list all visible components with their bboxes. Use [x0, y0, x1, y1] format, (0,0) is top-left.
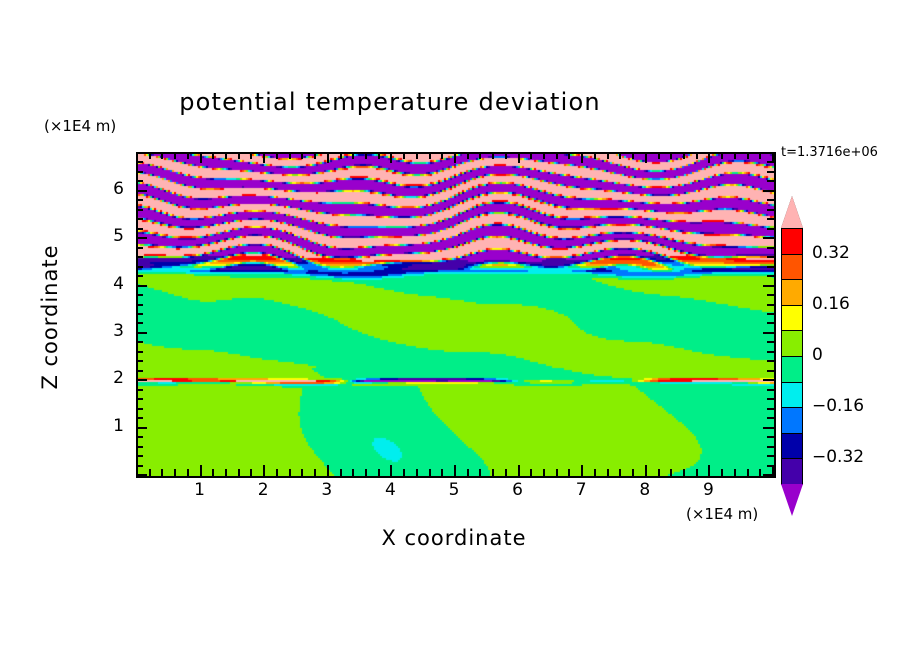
y-tick-right	[767, 209, 774, 211]
x-tick	[390, 465, 392, 476]
y-tick-right	[767, 180, 774, 182]
y-tick-right	[763, 237, 774, 239]
x-tick	[632, 469, 634, 476]
y-tick-right	[767, 161, 774, 163]
y-tick-right	[767, 341, 774, 343]
contour-field	[138, 154, 774, 476]
x-tick	[518, 465, 520, 476]
x-unit-label: (×1E4 m)	[686, 505, 758, 523]
y-tick-right	[767, 455, 774, 457]
colorbar-band	[781, 305, 803, 332]
y-tick	[136, 398, 143, 400]
x-tick-top	[518, 152, 520, 163]
colorbar-tick-label: −0.32	[812, 447, 864, 467]
x-tick	[556, 469, 558, 476]
y-tick-right	[767, 465, 774, 467]
x-tick-label: 4	[370, 480, 410, 500]
contour-plot-area[interactable]	[136, 152, 776, 478]
y-tick	[136, 436, 143, 438]
x-tick-top	[212, 152, 214, 159]
x-tick	[174, 469, 176, 476]
y-tick	[136, 474, 147, 476]
x-tick	[467, 469, 469, 476]
colorbar-tick-label: 0.32	[812, 243, 850, 263]
x-tick	[352, 469, 354, 476]
x-tick-top	[721, 152, 723, 159]
y-tick	[136, 408, 143, 410]
x-tick-top	[327, 152, 329, 163]
x-tick	[212, 469, 214, 476]
x-tick-top	[149, 152, 151, 159]
y-tick-right	[767, 256, 774, 258]
x-tick-label: 2	[243, 480, 283, 500]
x-tick-top	[683, 152, 685, 159]
y-tick	[136, 275, 143, 277]
x-tick-top	[390, 152, 392, 163]
x-tick-top	[581, 152, 583, 163]
x-tick	[200, 465, 202, 476]
x-tick	[314, 469, 316, 476]
x-tick-top	[556, 152, 558, 159]
x-tick	[530, 469, 532, 476]
x-tick-top	[225, 152, 227, 159]
y-tick	[136, 171, 143, 173]
y-tick-label: 3	[84, 321, 124, 341]
x-tick	[759, 469, 761, 476]
x-tick-label: 5	[434, 480, 474, 500]
x-tick	[289, 469, 291, 476]
x-tick-label: 3	[307, 480, 347, 500]
colorbar-over-arrow-icon	[781, 196, 803, 228]
x-tick	[670, 469, 672, 476]
y-tick-right	[767, 218, 774, 220]
x-tick	[365, 469, 367, 476]
x-tick-label: 9	[688, 480, 728, 500]
x-tick-top	[467, 152, 469, 159]
y-tick-right	[767, 294, 774, 296]
x-tick-top	[378, 152, 380, 159]
y-tick	[136, 379, 147, 381]
y-tick	[136, 332, 147, 334]
y-tick-right	[763, 427, 774, 429]
y-tick	[136, 313, 143, 315]
y-tick-right	[767, 417, 774, 419]
y-tick-right	[767, 351, 774, 353]
x-tick	[568, 469, 570, 476]
x-tick-top	[276, 152, 278, 159]
x-tick	[378, 469, 380, 476]
y-tick	[136, 341, 143, 343]
x-tick-top	[301, 152, 303, 159]
x-tick	[619, 469, 621, 476]
y-tick-right	[767, 408, 774, 410]
x-tick-top	[492, 152, 494, 159]
colorbar-tick-label: 0.16	[812, 294, 850, 314]
colorbar-tick-label: −0.16	[812, 396, 864, 416]
x-tick-top	[759, 152, 761, 159]
colorbar-band	[781, 458, 803, 485]
x-tick-top	[568, 152, 570, 159]
x-tick	[543, 469, 545, 476]
x-tick-top	[403, 152, 405, 159]
colorbar-under-arrow-icon	[781, 484, 803, 516]
x-tick-top	[708, 152, 710, 163]
x-tick	[429, 469, 431, 476]
y-tick	[136, 446, 143, 448]
x-tick	[734, 469, 736, 476]
y-tick-right	[767, 171, 774, 173]
y-tick	[136, 152, 143, 154]
y-tick-right	[767, 247, 774, 249]
x-tick	[276, 469, 278, 476]
x-tick-top	[696, 152, 698, 159]
x-tick-top	[479, 152, 481, 159]
x-tick-label: 1	[180, 480, 220, 500]
x-tick	[747, 469, 749, 476]
x-tick-top	[365, 152, 367, 159]
y-tick	[136, 218, 143, 220]
x-tick	[454, 465, 456, 476]
y-tick	[136, 389, 143, 391]
x-tick-top	[632, 152, 634, 159]
x-tick	[645, 465, 647, 476]
y-tick-label: 4	[84, 274, 124, 294]
y-tick	[136, 161, 143, 163]
x-tick	[149, 469, 151, 476]
y-tick-right	[767, 398, 774, 400]
x-tick	[327, 465, 329, 476]
x-tick-top	[340, 152, 342, 159]
y-tick	[136, 417, 143, 419]
y-tick	[136, 256, 143, 258]
y-tick	[136, 180, 143, 182]
y-tick	[136, 209, 143, 211]
x-tick	[441, 469, 443, 476]
colorbar-band	[781, 407, 803, 434]
y-tick-right	[767, 275, 774, 277]
x-tick-label: 6	[498, 480, 538, 500]
x-tick-top	[645, 152, 647, 163]
x-tick	[225, 469, 227, 476]
y-tick-right	[763, 285, 774, 287]
x-tick-top	[670, 152, 672, 159]
y-tick-right	[767, 266, 774, 268]
x-tick	[708, 465, 710, 476]
x-tick-top	[505, 152, 507, 159]
x-tick-top	[429, 152, 431, 159]
y-axis-title: Z coordinate	[38, 207, 62, 427]
x-tick-top	[250, 152, 252, 159]
y-tick-right	[763, 190, 774, 192]
y-tick-right	[767, 370, 774, 372]
colorbar-band	[781, 433, 803, 460]
x-axis-title: X coordinate	[136, 526, 772, 550]
x-tick-top	[658, 152, 660, 159]
x-tick-top	[594, 152, 596, 159]
y-tick-right	[767, 360, 774, 362]
colorbar-tick-label: 0	[812, 345, 823, 365]
y-tick-right	[767, 446, 774, 448]
x-tick	[607, 469, 609, 476]
y-tick-right	[767, 322, 774, 324]
x-tick	[416, 469, 418, 476]
x-tick	[263, 465, 265, 476]
x-tick-top	[747, 152, 749, 159]
timestamp-annotation: t=1.3716e+06	[781, 145, 878, 160]
x-tick-label: 7	[561, 480, 601, 500]
y-tick	[136, 465, 143, 467]
y-tick-right	[763, 379, 774, 381]
y-tick-right	[763, 474, 774, 476]
colorbar-band	[781, 382, 803, 409]
y-tick	[136, 285, 147, 287]
y-tick-label: 2	[84, 368, 124, 388]
x-tick	[658, 469, 660, 476]
y-tick	[136, 322, 143, 324]
y-tick	[136, 370, 143, 372]
colorbar-band	[781, 356, 803, 383]
figure-canvas: potential temperature deviation (×1E4 m)…	[0, 0, 904, 654]
y-tick-right	[767, 152, 774, 154]
x-tick-top	[161, 152, 163, 159]
x-tick-top	[441, 152, 443, 159]
x-tick	[238, 469, 240, 476]
x-tick	[721, 469, 723, 476]
x-tick-top	[289, 152, 291, 159]
page-title: potential temperature deviation	[0, 88, 780, 116]
y-unit-label: (×1E4 m)	[44, 117, 116, 135]
x-tick	[250, 469, 252, 476]
x-tick	[479, 469, 481, 476]
x-tick-top	[187, 152, 189, 159]
x-tick-top	[174, 152, 176, 159]
x-tick-top	[454, 152, 456, 163]
y-tick	[136, 360, 143, 362]
y-tick-right	[763, 332, 774, 334]
y-tick-label: 5	[84, 226, 124, 246]
colorbar-band	[781, 279, 803, 306]
x-tick-top	[314, 152, 316, 159]
x-tick	[492, 469, 494, 476]
x-tick-top	[352, 152, 354, 159]
y-tick	[136, 351, 143, 353]
y-tick	[136, 228, 143, 230]
y-tick-right	[767, 436, 774, 438]
y-tick-right	[767, 228, 774, 230]
x-tick-top	[530, 152, 532, 159]
y-tick-right	[767, 313, 774, 315]
x-tick-top	[238, 152, 240, 159]
y-tick-right	[767, 304, 774, 306]
x-tick	[581, 465, 583, 476]
x-tick	[505, 469, 507, 476]
x-tick	[594, 469, 596, 476]
colorbar-band	[781, 254, 803, 281]
y-tick	[136, 294, 143, 296]
x-tick-top	[607, 152, 609, 159]
y-tick	[136, 304, 143, 306]
x-tick-top	[619, 152, 621, 159]
y-tick	[136, 427, 147, 429]
y-tick-label: 1	[84, 416, 124, 436]
x-tick	[696, 469, 698, 476]
x-tick-top	[263, 152, 265, 163]
y-tick	[136, 266, 143, 268]
x-tick	[187, 469, 189, 476]
x-tick-top	[734, 152, 736, 159]
colorbar[interactable]	[781, 228, 803, 484]
y-tick	[136, 455, 143, 457]
y-tick-label: 6	[84, 179, 124, 199]
y-tick-right	[767, 199, 774, 201]
x-tick-top	[543, 152, 545, 159]
y-tick	[136, 190, 147, 192]
colorbar-band	[781, 330, 803, 357]
x-tick	[340, 469, 342, 476]
colorbar-band	[781, 228, 803, 255]
x-tick	[683, 469, 685, 476]
x-tick	[301, 469, 303, 476]
y-tick	[136, 247, 143, 249]
x-tick-label: 8	[625, 480, 665, 500]
x-tick-top	[200, 152, 202, 163]
x-tick	[161, 469, 163, 476]
y-tick	[136, 199, 143, 201]
y-tick-right	[767, 389, 774, 391]
x-tick-top	[416, 152, 418, 159]
y-tick	[136, 237, 147, 239]
x-tick	[403, 469, 405, 476]
